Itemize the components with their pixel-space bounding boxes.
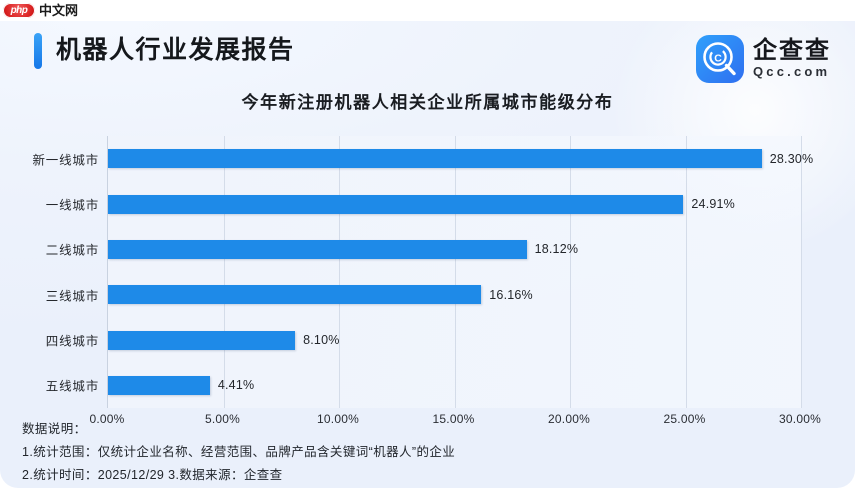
qcc-brand-logo: C 企查查 Qcc.com bbox=[696, 35, 831, 83]
gridline bbox=[570, 136, 571, 408]
bar-row[interactable]: 28.30% bbox=[108, 149, 801, 168]
gridline bbox=[224, 136, 225, 408]
bar-row[interactable]: 18.12% bbox=[108, 240, 801, 259]
y-axis-label: 四线城市 bbox=[7, 331, 99, 350]
bar-value-label: 8.10% bbox=[303, 333, 339, 347]
chart-title: 今年新注册机器人相关企业所属城市能级分布 bbox=[0, 88, 855, 113]
qcc-logo-icon: C bbox=[696, 35, 744, 83]
bar-row[interactable]: 16.16% bbox=[108, 285, 801, 304]
bar-value-label: 24.91% bbox=[691, 197, 735, 211]
qcc-name-cn: 企查查 bbox=[753, 38, 831, 64]
bar[interactable] bbox=[108, 195, 683, 214]
plot-area: 28.30%24.91%18.12%16.16%8.10%4.41% bbox=[107, 136, 801, 408]
gridline bbox=[455, 136, 456, 408]
y-axis-category-labels: 新一线城市一线城市二线城市三线城市四线城市五线城市 bbox=[0, 136, 99, 408]
bar-value-label: 16.16% bbox=[489, 288, 533, 302]
report-card: 机器人行业发展报告 C 企查查 Qcc.com 今年新注册机器人相关企业所属城市… bbox=[0, 20, 855, 488]
bar-row[interactable]: 4.41% bbox=[108, 376, 801, 395]
svg-text:C: C bbox=[714, 52, 722, 64]
qcc-domain: Qcc.com bbox=[753, 64, 831, 80]
bar-value-label: 28.30% bbox=[770, 152, 814, 166]
gridline bbox=[339, 136, 340, 408]
footnotes: 数据说明： 1.统计范围：仅统计企业名称、经营范围、品牌产品含关键词“机器人”的… bbox=[22, 418, 455, 487]
gridline bbox=[686, 136, 687, 408]
site-logo-text: 中文网 bbox=[39, 3, 78, 18]
page-title: 机器人行业发展报告 bbox=[56, 32, 295, 69]
bar[interactable] bbox=[108, 149, 762, 168]
y-axis-label: 五线城市 bbox=[7, 376, 99, 395]
php-logo-icon: php bbox=[3, 3, 35, 18]
gridline bbox=[801, 136, 802, 408]
bar[interactable] bbox=[108, 285, 481, 304]
x-axis-label: 20.00% bbox=[548, 412, 590, 426]
footnote-line-1: 1.统计范围：仅统计企业名称、经营范围、品牌产品含关键词“机器人”的企业 bbox=[22, 441, 455, 464]
report-infographic: php 中文网 机器人行业发展报告 C 企查查 Qcc.com bbox=[0, 0, 855, 488]
bar-chart: 新一线城市一线城市二线城市三线城市四线城市五线城市 28.30%24.91%18… bbox=[0, 116, 855, 434]
y-axis-label: 一线城市 bbox=[7, 195, 99, 214]
title-accent-bar bbox=[34, 33, 42, 69]
y-axis-label: 新一线城市 bbox=[7, 149, 99, 168]
x-axis-label: 25.00% bbox=[664, 412, 706, 426]
x-axis-label: 30.00% bbox=[779, 412, 821, 426]
footnote-line-2: 2.统计时间：2025/12/29 3.数据来源：企查查 bbox=[22, 464, 455, 487]
site-logo-bar: php 中文网 bbox=[0, 0, 855, 21]
bar[interactable] bbox=[108, 240, 527, 259]
report-header: 机器人行业发展报告 C 企查查 Qcc.com bbox=[0, 20, 855, 82]
bar[interactable] bbox=[108, 331, 295, 350]
qcc-wordmark: 企查查 Qcc.com bbox=[753, 38, 831, 80]
footnote-heading: 数据说明： bbox=[22, 418, 455, 441]
y-axis-label: 二线城市 bbox=[7, 240, 99, 259]
bar-value-label: 18.12% bbox=[535, 242, 579, 256]
bar-row[interactable]: 24.91% bbox=[108, 195, 801, 214]
bar-row[interactable]: 8.10% bbox=[108, 331, 801, 350]
bar[interactable] bbox=[108, 376, 210, 395]
bar-value-label: 4.41% bbox=[218, 378, 254, 392]
y-axis-label: 三线城市 bbox=[7, 285, 99, 304]
